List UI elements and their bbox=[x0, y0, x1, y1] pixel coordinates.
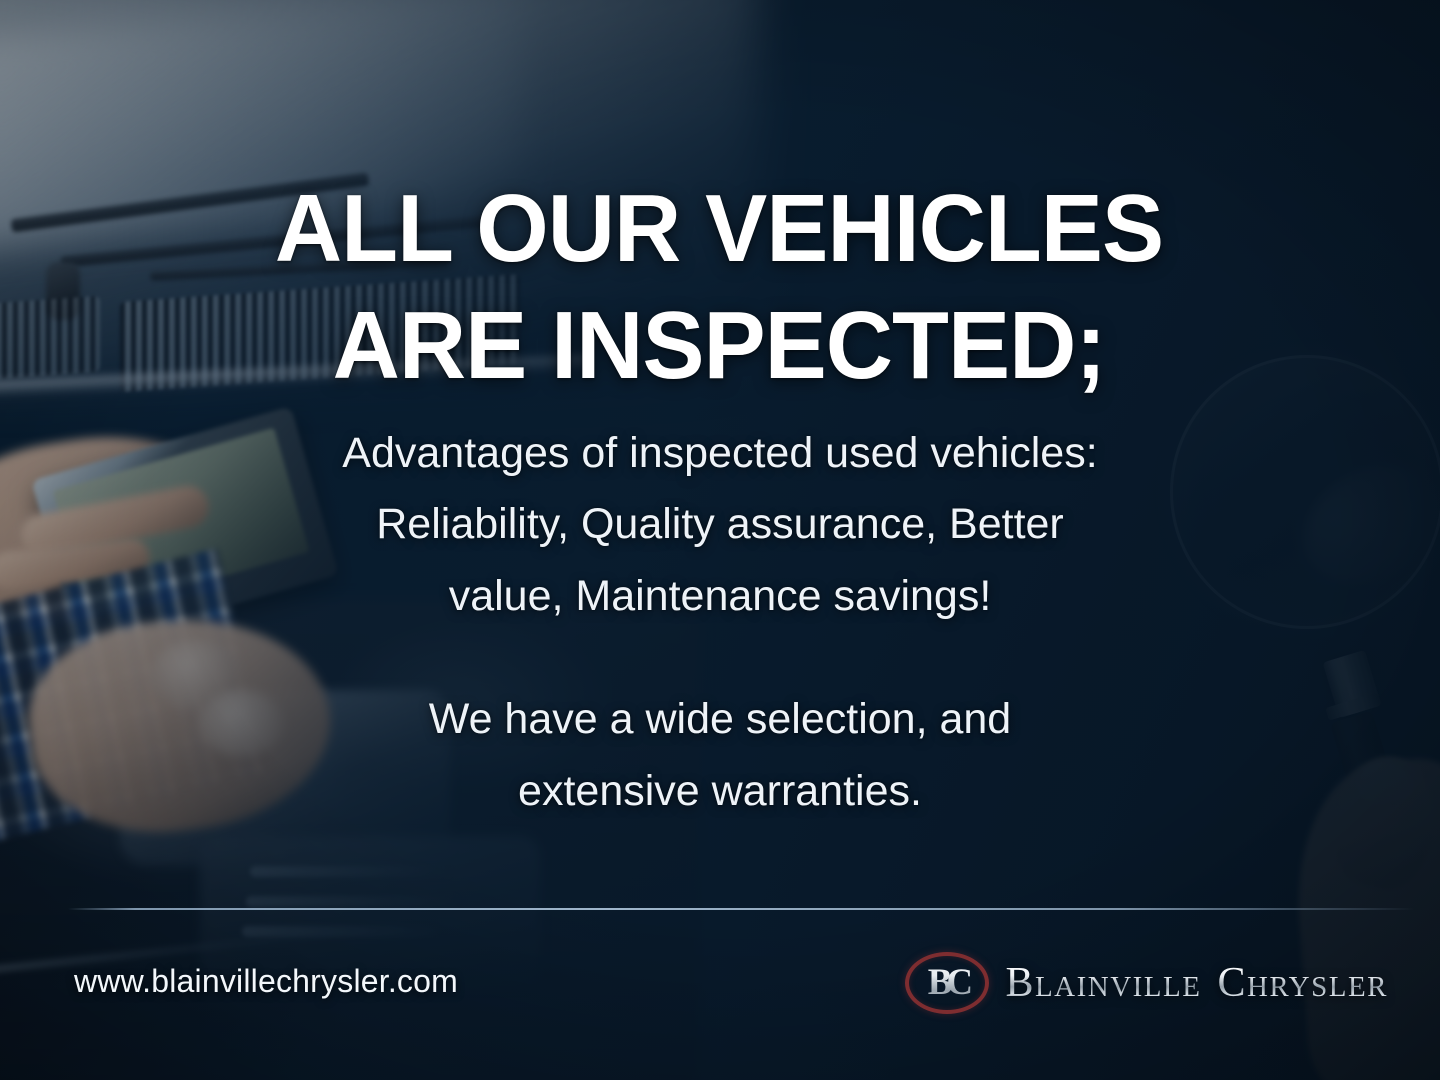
website-url-link[interactable]: www.blainvillechrysler.com bbox=[74, 963, 458, 1000]
monogram-letters: BC bbox=[905, 952, 989, 1014]
headline-line-1: ALL OUR VEHICLES bbox=[22, 170, 1417, 287]
bc-monogram-icon: BC bbox=[905, 952, 989, 1014]
paragraph-1-line-3: value, Maintenance savings! bbox=[0, 561, 1440, 632]
paragraph-2-line-1: We have a wide selection, and bbox=[0, 684, 1440, 755]
footer-divider bbox=[68, 908, 1414, 910]
headline-line-2: ARE INSPECTED; bbox=[22, 287, 1417, 404]
paragraph-2-line-2: extensive warranties. bbox=[0, 756, 1440, 827]
paragraph-1-line-1: Advantages of inspected used vehicles: bbox=[0, 418, 1440, 489]
promotional-slide: ALL OUR VEHICLES ARE INSPECTED; Advantag… bbox=[0, 0, 1440, 1080]
page-title: ALL OUR VEHICLES ARE INSPECTED; bbox=[0, 170, 1440, 404]
brand-word-blainville: Blainville bbox=[1005, 960, 1201, 1006]
body-copy: Advantages of inspected used vehicles: R… bbox=[0, 418, 1440, 827]
paragraph-selection: We have a wide selection, and extensive … bbox=[0, 684, 1440, 827]
brand-logo[interactable]: BC BlainvilleChrysler bbox=[905, 952, 1388, 1014]
paragraph-1-line-2: Reliability, Quality assurance, Better bbox=[0, 489, 1440, 560]
brand-name-text: BlainvilleChrysler bbox=[1005, 959, 1388, 1007]
brand-word-chrysler: Chrysler bbox=[1217, 960, 1388, 1006]
paragraph-advantages: Advantages of inspected used vehicles: R… bbox=[0, 418, 1440, 632]
